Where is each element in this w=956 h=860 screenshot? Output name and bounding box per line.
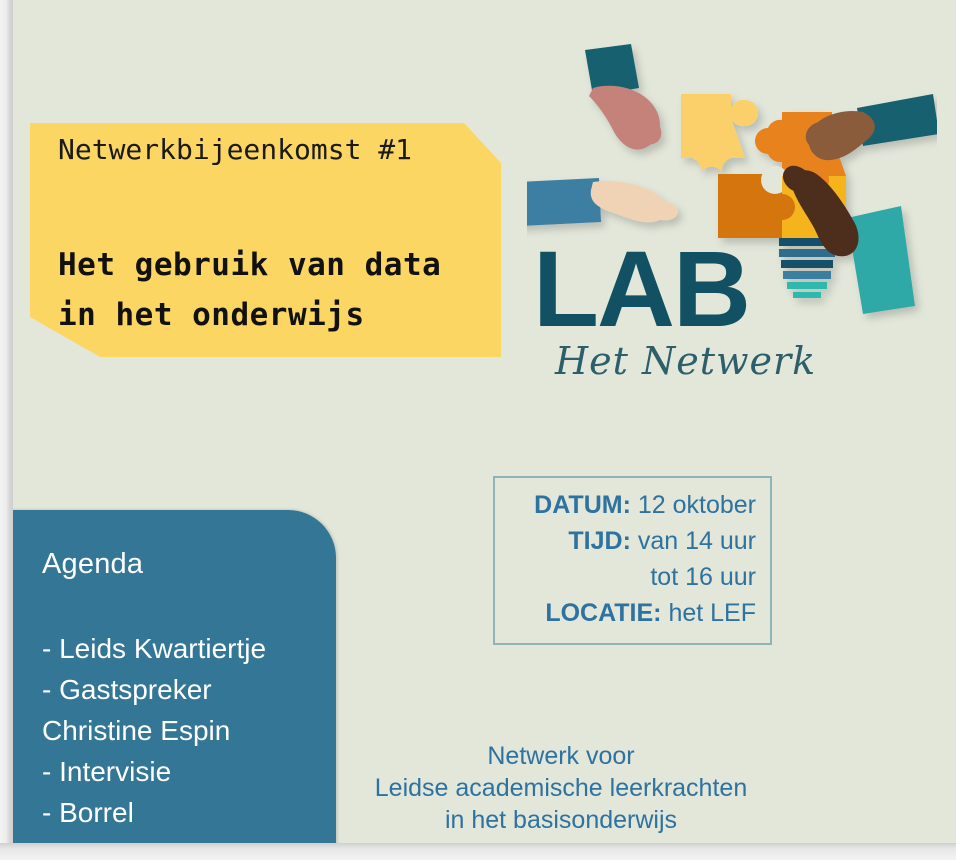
hand-top-icon: [585, 44, 661, 150]
detail-value-datum: 12 oktober: [631, 491, 756, 519]
logo-wordmark: LAB: [533, 228, 749, 349]
agenda-list: - Leids Kwartiertje - Gastspreker Christ…: [42, 628, 324, 833]
page-title: Het gebruik van data in het onderwijs: [58, 240, 441, 340]
slide-edge-bottom: [0, 843, 956, 860]
event-details-lines: DATUM: 12 oktober TIJD: van 14 uur tot 1…: [495, 487, 756, 631]
footer-tagline: Netwerk voor Leidse academische leerkrac…: [338, 740, 784, 836]
hand-right-icon: [806, 94, 937, 160]
lab-logo: LAB Het Netwerk: [527, 30, 937, 390]
puzzle-piece-top-left: [681, 94, 758, 172]
agenda-title: Agenda: [42, 548, 143, 581]
detail-row-tijd: TIJD: van 14 uur: [495, 523, 756, 559]
detail-label-datum: DATUM:: [534, 491, 631, 519]
agenda-panel: Agenda - Leids Kwartiertje - Gastspreker…: [0, 510, 336, 860]
event-details-box: DATUM: 12 oktober TIJD: van 14 uur tot 1…: [493, 476, 772, 645]
detail-label-tijd: TIJD:: [568, 527, 631, 555]
detail-row-locatie: LOCATIE: het LEF: [495, 595, 756, 631]
slide-edge-left: [0, 0, 13, 860]
presentation-slide: Netwerkbijeenkomst #1 Het gebruik van da…: [0, 0, 956, 860]
list-item: - Borrel: [42, 792, 324, 833]
list-item: - Gastspreker Christine Espin: [42, 669, 324, 751]
detail-label-locatie: LOCATIE:: [545, 599, 661, 627]
detail-value-tijd-end: tot 16 uur: [650, 563, 756, 591]
title-card: Netwerkbijeenkomst #1 Het gebruik van da…: [30, 123, 501, 357]
title-kicker: Netwerkbijeenkomst #1: [58, 133, 412, 166]
detail-row-datum: DATUM: 12 oktober: [495, 487, 756, 523]
list-item: - Intervisie: [42, 751, 324, 792]
detail-value-tijd: van 14 uur: [631, 527, 756, 555]
detail-row-tijd-end: tot 16 uur: [495, 559, 756, 595]
hand-left-icon: [527, 178, 678, 228]
logo-tagline: Het Netwerk: [554, 339, 816, 383]
list-item: - Leids Kwartiertje: [42, 628, 324, 669]
detail-value-locatie: het LEF: [662, 599, 757, 627]
